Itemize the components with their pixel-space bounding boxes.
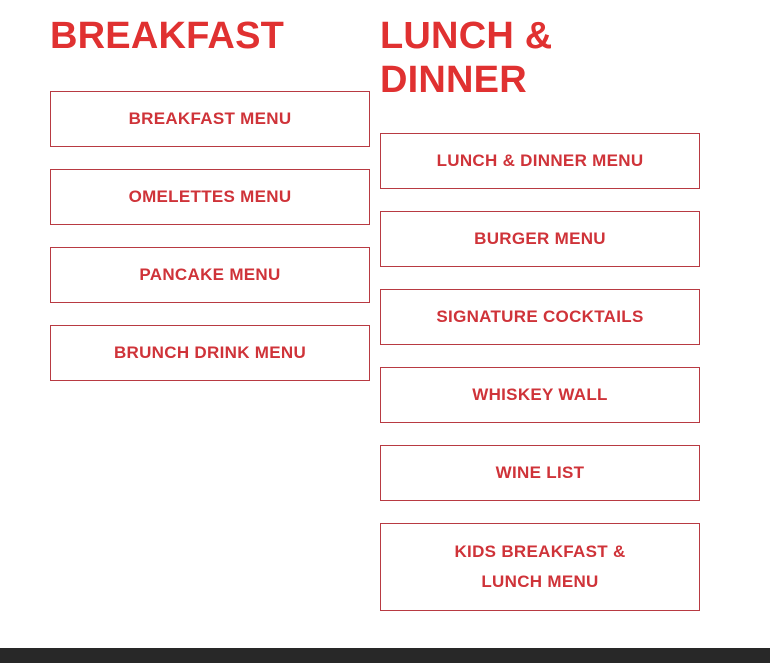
breakfast-menu-list: BREAKFAST MENU OMELETTES MENU PANCAKE ME… [50, 91, 369, 381]
whiskey-wall-button[interactable]: WHISKEY WALL [380, 367, 700, 423]
signature-cocktails-button[interactable]: SIGNATURE COCKTAILS [380, 289, 700, 345]
omelettes-menu-button[interactable]: OMELETTES MENU [50, 169, 370, 225]
pancake-menu-button[interactable]: PANCAKE MENU [50, 247, 370, 303]
kids-breakfast-lunch-menu-button[interactable]: KIDS BREAKFAST & LUNCH MENU [380, 523, 700, 611]
burger-menu-button[interactable]: BURGER MENU [380, 211, 700, 267]
breakfast-column: BREAKFAST BREAKFAST MENU OMELETTES MENU … [0, 14, 370, 381]
breakfast-heading: BREAKFAST [50, 14, 369, 58]
lunch-dinner-heading: LUNCH & DINNER [380, 14, 580, 102]
menu-columns: BREAKFAST BREAKFAST MENU OMELETTES MENU … [0, 0, 770, 611]
wine-list-button[interactable]: WINE LIST [380, 445, 700, 501]
menu-links-page: BREAKFAST BREAKFAST MENU OMELETTES MENU … [0, 0, 770, 663]
lunch-dinner-menu-button[interactable]: LUNCH & DINNER MENU [380, 133, 700, 189]
lunch-dinner-menu-list: LUNCH & DINNER MENU BURGER MENU SIGNATUR… [380, 133, 719, 611]
footer-bar [0, 648, 770, 663]
brunch-drink-menu-button[interactable]: BRUNCH DRINK MENU [50, 325, 370, 381]
lunch-dinner-column: LUNCH & DINNER LUNCH & DINNER MENU BURGE… [370, 14, 770, 611]
breakfast-menu-button[interactable]: BREAKFAST MENU [50, 91, 370, 147]
